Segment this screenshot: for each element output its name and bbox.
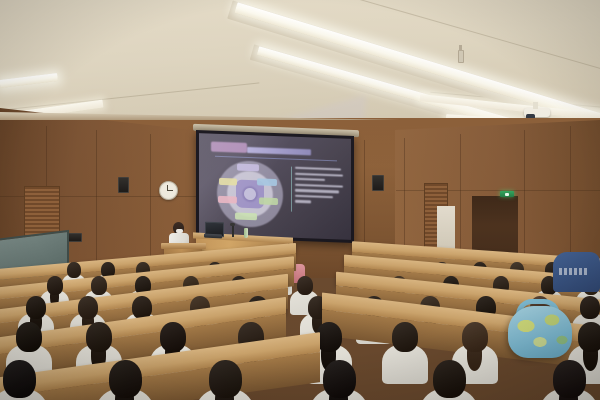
audience-head	[3, 360, 36, 398]
audience-head	[91, 276, 107, 295]
microphone	[232, 225, 234, 237]
slide-chip-left-upper	[219, 178, 237, 186]
audience-head	[67, 262, 81, 278]
slide-divider-rule	[215, 156, 337, 162]
audience-head	[160, 322, 186, 352]
ceiling-projector	[524, 108, 550, 117]
audience-head	[297, 276, 313, 295]
speaker-right	[372, 175, 384, 191]
exit-sign	[500, 191, 514, 197]
slide-bullet-list	[295, 167, 343, 208]
wall-clock	[159, 181, 178, 200]
list-item	[0, 360, 48, 400]
slide-chip-right-lower	[259, 197, 278, 205]
slide-bullet-line	[295, 167, 341, 171]
wall-panel-seam	[96, 130, 97, 276]
jacket-print-text	[559, 268, 589, 275]
audience-head	[580, 296, 600, 319]
slide-bullet-line	[295, 172, 343, 176]
audience-head	[392, 322, 418, 352]
laptop-base	[204, 234, 222, 239]
slide-chip-top	[237, 164, 259, 172]
list-item	[96, 360, 154, 400]
audience-head	[78, 296, 98, 319]
audience-head	[209, 360, 242, 398]
list-item	[310, 360, 368, 400]
audience-head	[86, 322, 112, 352]
slide-chip-right-upper	[257, 178, 277, 186]
water-bottle	[244, 228, 248, 238]
podium-top	[161, 243, 206, 249]
slide-bullet-accent-rule	[291, 167, 292, 212]
audience-head	[578, 322, 600, 352]
audience-head	[462, 322, 488, 352]
audience-head	[553, 360, 586, 398]
slide-bullet-line	[295, 189, 339, 193]
list-item	[196, 360, 254, 400]
slide-chip-left-lower	[218, 196, 237, 204]
slide-chip-bottom	[235, 212, 257, 220]
lecture-hall-photo	[0, 0, 600, 400]
patterned-tote-bag	[508, 306, 572, 358]
audience-head	[47, 276, 63, 295]
slide-bullet-line	[295, 195, 333, 199]
audience-head	[26, 296, 46, 319]
slide-bullet-line	[295, 200, 311, 203]
sprinkler-icon	[458, 50, 464, 63]
slide-bullet-line	[295, 178, 325, 181]
blue-jacket-person	[553, 252, 600, 292]
audience-head	[433, 360, 466, 398]
speaker-left	[118, 177, 129, 193]
slide-callout-tag	[211, 142, 247, 153]
slide-bullet-line	[295, 184, 343, 188]
list-item	[540, 360, 598, 400]
slide-title-text	[247, 147, 311, 155]
list-item	[420, 360, 478, 400]
audience-head	[109, 360, 142, 398]
audience-head	[323, 360, 356, 398]
audience-head	[16, 322, 42, 352]
